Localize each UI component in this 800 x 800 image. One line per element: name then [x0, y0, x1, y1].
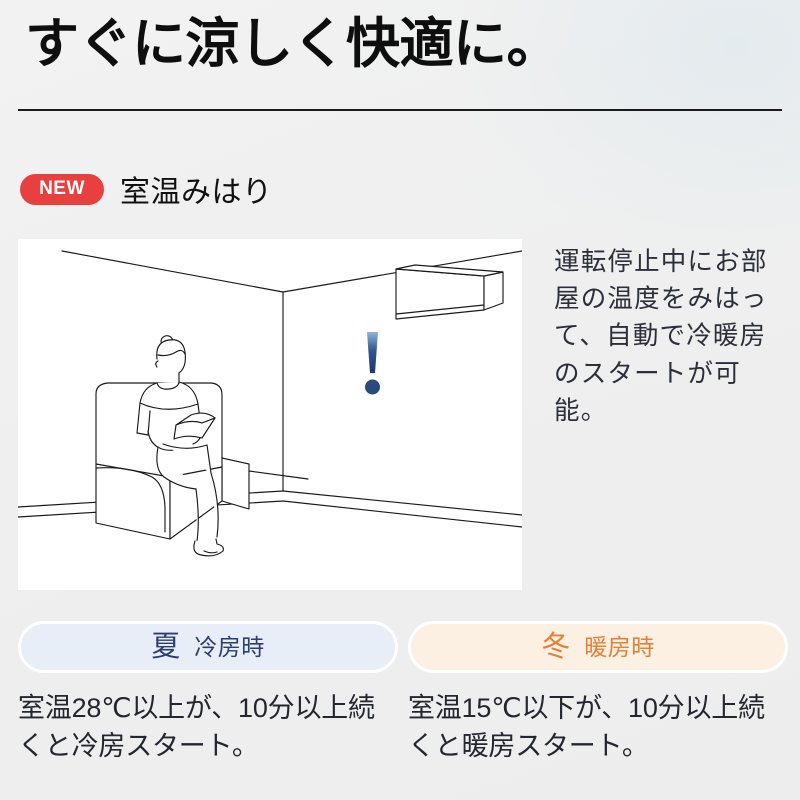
room-line-art-illustration	[18, 239, 522, 590]
exclamation-dot	[365, 380, 380, 395]
season-column-winter: 冬 暖房時 室温15℃以下が、10分以上続くと暖房スタート。	[408, 621, 788, 766]
ac-front-face	[396, 269, 484, 319]
room-illustration-panel	[18, 239, 522, 590]
page-title: すぐに涼しく快適に。	[25, 12, 560, 78]
new-badge: NEW	[20, 174, 104, 205]
season-pill-summer: 夏 冷房時	[18, 621, 398, 673]
season-kanji-winter: 冬	[541, 633, 570, 662]
ac-side-face	[484, 272, 503, 310]
feature-description: 運転停止中にお部屋の温度をみはって、自動で冷暖房のスタートが可能。	[554, 244, 786, 430]
promo-page: すぐに涼しく快適に。 NEW 室温みはり	[0, 0, 800, 800]
season-body-winter: 室温15℃以下が、10分以上続くと暖房スタート。	[408, 689, 788, 766]
season-column-summer: 夏 冷房時 室温28℃以上が、10分以上続くと冷房スタート。	[18, 621, 398, 766]
season-kanji-summer: 夏	[151, 633, 180, 662]
sofa-right-arm	[222, 458, 249, 509]
feature-title: 室温みはり	[120, 167, 273, 211]
season-subtitle-summer: 冷房時	[194, 636, 265, 659]
season-subtitle-winter: 暖房時	[584, 636, 655, 659]
season-pill-winter: 冬 暖房時	[408, 621, 788, 673]
header-divider	[18, 109, 782, 111]
feature-header: NEW 室温みはり	[20, 167, 273, 211]
season-body-summer: 室温28℃以上が、10分以上続くと冷房スタート。	[18, 689, 398, 766]
